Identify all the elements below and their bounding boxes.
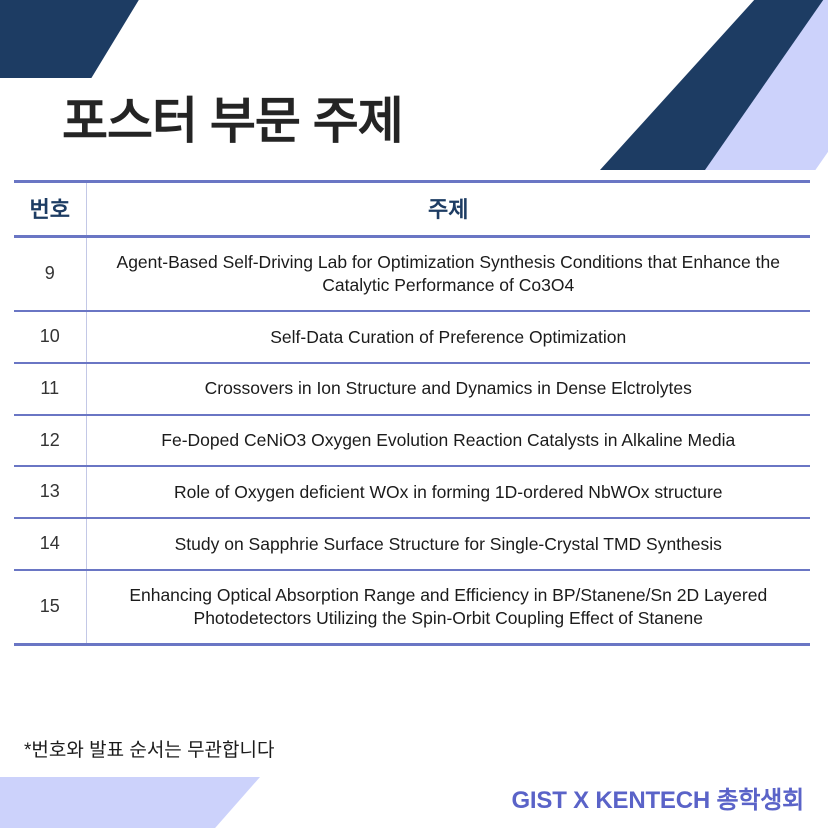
header-navy-parallelogram-left [0,0,140,78]
column-header-number: 번호 [14,182,86,237]
table-row: 12Fe-Doped CeNiO3 Oxygen Evolution React… [14,415,810,467]
row-topic-cell: Role of Oxygen deficient WOx in forming … [86,466,810,518]
row-number-cell: 9 [14,237,86,312]
row-number-cell: 13 [14,466,86,518]
table-row: 14Study on Sapphrie Surface Structure fo… [14,518,810,570]
row-number-cell: 11 [14,363,86,415]
table-row: 9Agent-Based Self-Driving Lab for Optimi… [14,237,810,312]
table-row: 10Self-Data Curation of Preference Optim… [14,311,810,363]
poster-canvas: 포스터 부문 주제 번호 주제 9Agent-Based Self-Drivin… [0,0,828,828]
table-header: 번호 주제 [14,182,810,237]
poster-topic-table: 번호 주제 9Agent-Based Self-Driving Lab for … [14,180,810,646]
header-navy-diagonal-band [600,0,828,170]
column-header-topic: 주제 [86,182,810,237]
row-topic-cell: Self-Data Curation of Preference Optimiz… [86,311,810,363]
row-number-cell: 10 [14,311,86,363]
table-row: 11Crossovers in Ion Structure and Dynami… [14,363,810,415]
table-body: 9Agent-Based Self-Driving Lab for Optimi… [14,237,810,645]
table-row: 15Enhancing Optical Absorption Range and… [14,570,810,645]
header-periwinkle-diagonal-band [705,0,828,170]
row-number-cell: 12 [14,415,86,467]
row-number-cell: 14 [14,518,86,570]
table-row: 13Role of Oxygen deficient WOx in formin… [14,466,810,518]
row-topic-cell: Fe-Doped CeNiO3 Oxygen Evolution Reactio… [86,415,810,467]
page-title: 포스터 부문 주제 [62,96,403,146]
footer-brand-text: GIST X KENTECH 총학생회 [511,780,804,815]
row-topic-cell: Agent-Based Self-Driving Lab for Optimiz… [86,237,810,312]
row-topic-cell: Crossovers in Ion Structure and Dynamics… [86,363,810,415]
footer-periwinkle-parallelogram [0,777,260,828]
row-topic-cell: Study on Sapphrie Surface Structure for … [86,518,810,570]
row-topic-cell: Enhancing Optical Absorption Range and E… [86,570,810,645]
table-header-row: 번호 주제 [14,182,810,237]
row-number-cell: 15 [14,570,86,645]
footnote-text: *번호와 발표 순서는 무관합니다 [24,735,274,762]
